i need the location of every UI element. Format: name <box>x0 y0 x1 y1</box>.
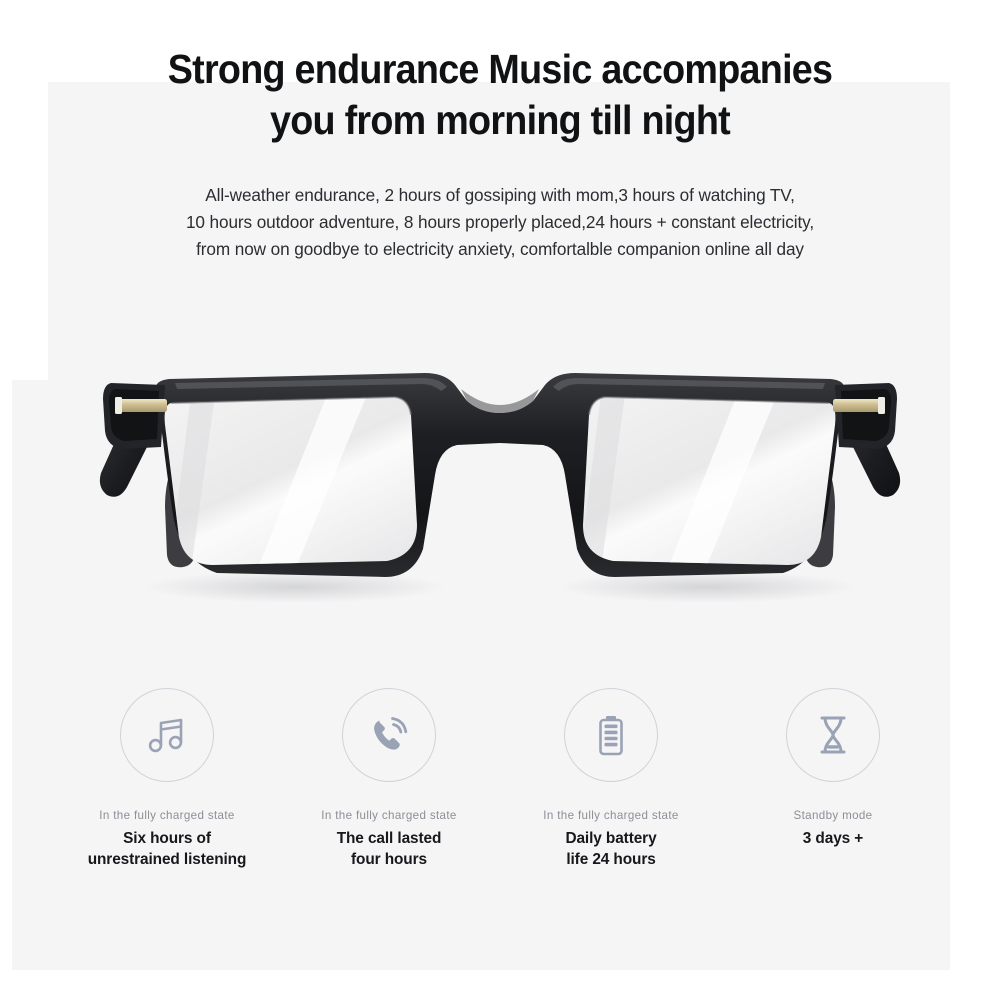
feature-title: 3 days + <box>803 828 863 849</box>
phone-call-icon <box>366 712 412 758</box>
feature-item-listening: In the fully charged state Six hours of … <box>56 688 278 870</box>
hourglass-icon <box>810 712 856 758</box>
feature-row: In the fully charged state Six hours of … <box>56 688 944 898</box>
feature-title: The call lasted four hours <box>337 828 442 870</box>
phone-call-icon-circle <box>342 688 436 782</box>
feature-title: Six hours of unrestrained listening <box>88 828 247 870</box>
charging-contact-right <box>833 399 883 412</box>
battery-icon-circle <box>564 688 658 782</box>
hinge-endpiece-right <box>833 383 897 449</box>
glasses-illustration <box>95 355 905 630</box>
product-image-glasses <box>95 355 905 630</box>
feature-item-standby: Standby mode 3 days + <box>722 688 944 849</box>
feature-subtitle: In the fully charged state <box>543 808 678 823</box>
music-note-icon-circle <box>120 688 214 782</box>
lens-right <box>565 385 845 575</box>
battery-icon <box>588 712 634 758</box>
charging-contact-left <box>117 399 167 412</box>
hourglass-icon-circle <box>786 688 880 782</box>
page-headline: Strong endurance Music accompanies you f… <box>40 44 960 146</box>
feature-item-battery: In the fully charged state Daily battery… <box>500 688 722 870</box>
lens-left <box>155 385 435 575</box>
feature-subtitle: In the fully charged state <box>321 808 456 823</box>
page-subcopy: All-weather endurance, 2 hours of gossip… <box>50 182 950 263</box>
feature-subtitle: Standby mode <box>794 808 873 823</box>
product-feature-page: Strong endurance Music accompanies you f… <box>0 0 1000 1000</box>
feature-title: Daily battery life 24 hours <box>565 828 656 870</box>
hinge-endpiece-left <box>103 383 167 449</box>
feature-item-call: In the fully charged state The call last… <box>278 688 500 870</box>
feature-subtitle: In the fully charged state <box>99 808 234 823</box>
music-note-icon <box>144 712 190 758</box>
